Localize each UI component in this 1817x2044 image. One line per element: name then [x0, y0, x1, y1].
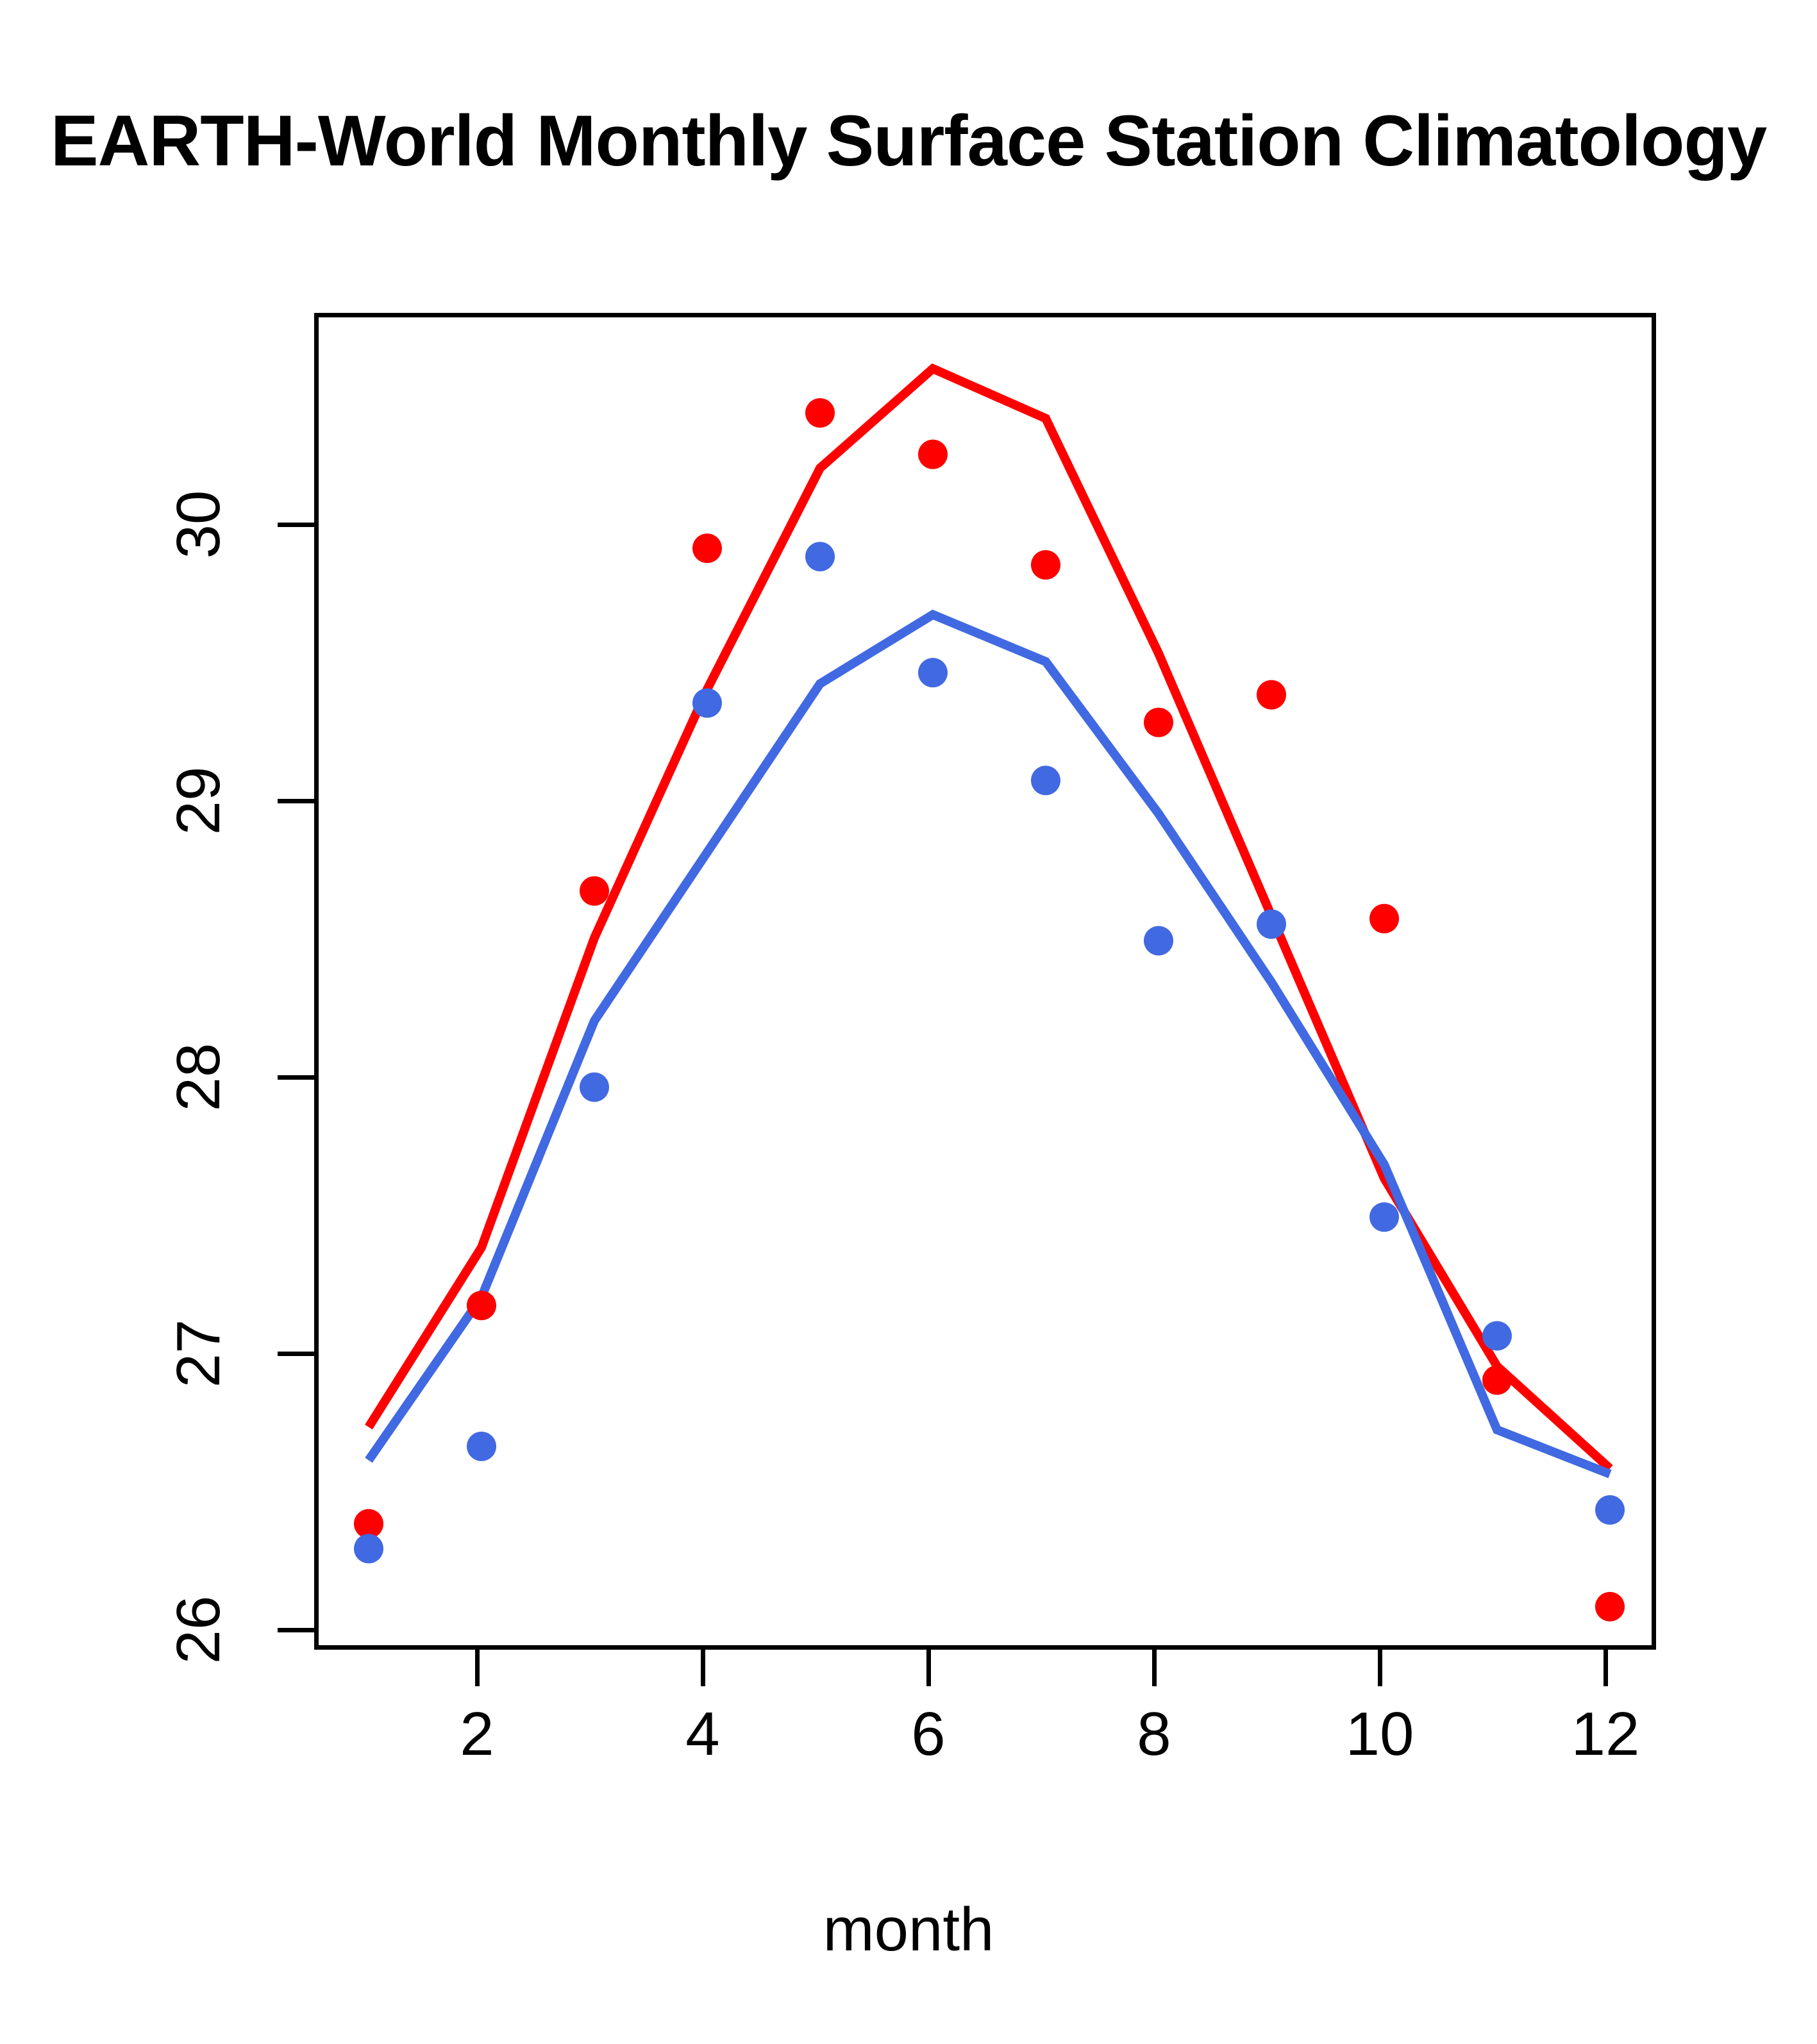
- data-point: [1031, 766, 1060, 795]
- x-tick-mark: [475, 1650, 480, 1686]
- data-point: [692, 533, 722, 563]
- data-point: [1144, 926, 1173, 955]
- series-layer: [354, 369, 1625, 1621]
- data-point: [1369, 1202, 1399, 1232]
- y-tick-label: 30: [168, 390, 230, 659]
- data-point: [805, 398, 835, 428]
- x-tick-mark: [926, 1650, 931, 1686]
- data-point: [1595, 1495, 1625, 1525]
- data-point: [1369, 904, 1399, 934]
- data-point: [1144, 708, 1173, 737]
- data-point: [918, 440, 948, 469]
- data-point: [580, 1073, 609, 1102]
- data-point: [1031, 550, 1060, 580]
- data-point: [354, 1534, 383, 1563]
- data-point: [1482, 1321, 1512, 1351]
- series-points-blue-points: [354, 542, 1625, 1563]
- y-tick-mark: [278, 799, 314, 803]
- x-tick-mark: [1603, 1650, 1608, 1686]
- data-point: [1257, 680, 1286, 710]
- x-tick-label: 4: [632, 1699, 773, 1770]
- y-tick-label: 29: [168, 666, 230, 935]
- x-tick-label: 10: [1309, 1699, 1450, 1770]
- data-point: [467, 1291, 496, 1320]
- plot-svg: [319, 317, 1661, 1654]
- plot-area: [314, 313, 1656, 1650]
- y-tick-mark: [278, 523, 314, 527]
- x-tick-label: 12: [1535, 1699, 1676, 1770]
- y-tick-mark: [278, 1352, 314, 1356]
- data-point: [918, 658, 948, 687]
- data-point: [580, 876, 609, 906]
- chart-title: EARTH-World Monthly Surface Station Clim…: [0, 99, 1817, 183]
- data-point: [692, 689, 722, 718]
- x-tick-label: 6: [858, 1699, 999, 1770]
- x-tick-label: 8: [1084, 1699, 1225, 1770]
- chart-canvas: EARTH-World Monthly Surface Station Clim…: [0, 0, 1817, 2044]
- series-line-red-line: [369, 369, 1610, 1468]
- data-point: [1595, 1592, 1625, 1621]
- data-point: [1482, 1365, 1512, 1395]
- data-point: [467, 1432, 496, 1461]
- x-tick-mark: [701, 1650, 705, 1686]
- y-tick-label: 28: [168, 942, 230, 1212]
- y-tick-label: 27: [168, 1219, 230, 1488]
- data-point: [805, 542, 835, 571]
- y-tick-mark: [278, 1075, 314, 1080]
- data-point: [1257, 909, 1286, 939]
- x-tick-mark: [1378, 1650, 1382, 1686]
- x-tick-mark: [1152, 1650, 1157, 1686]
- x-tick-label: 2: [406, 1699, 548, 1770]
- series-points-red-points: [354, 398, 1625, 1621]
- x-axis-title: month: [0, 1895, 1817, 1965]
- y-tick-mark: [278, 1628, 314, 1632]
- y-tick-label: 26: [168, 1495, 230, 1764]
